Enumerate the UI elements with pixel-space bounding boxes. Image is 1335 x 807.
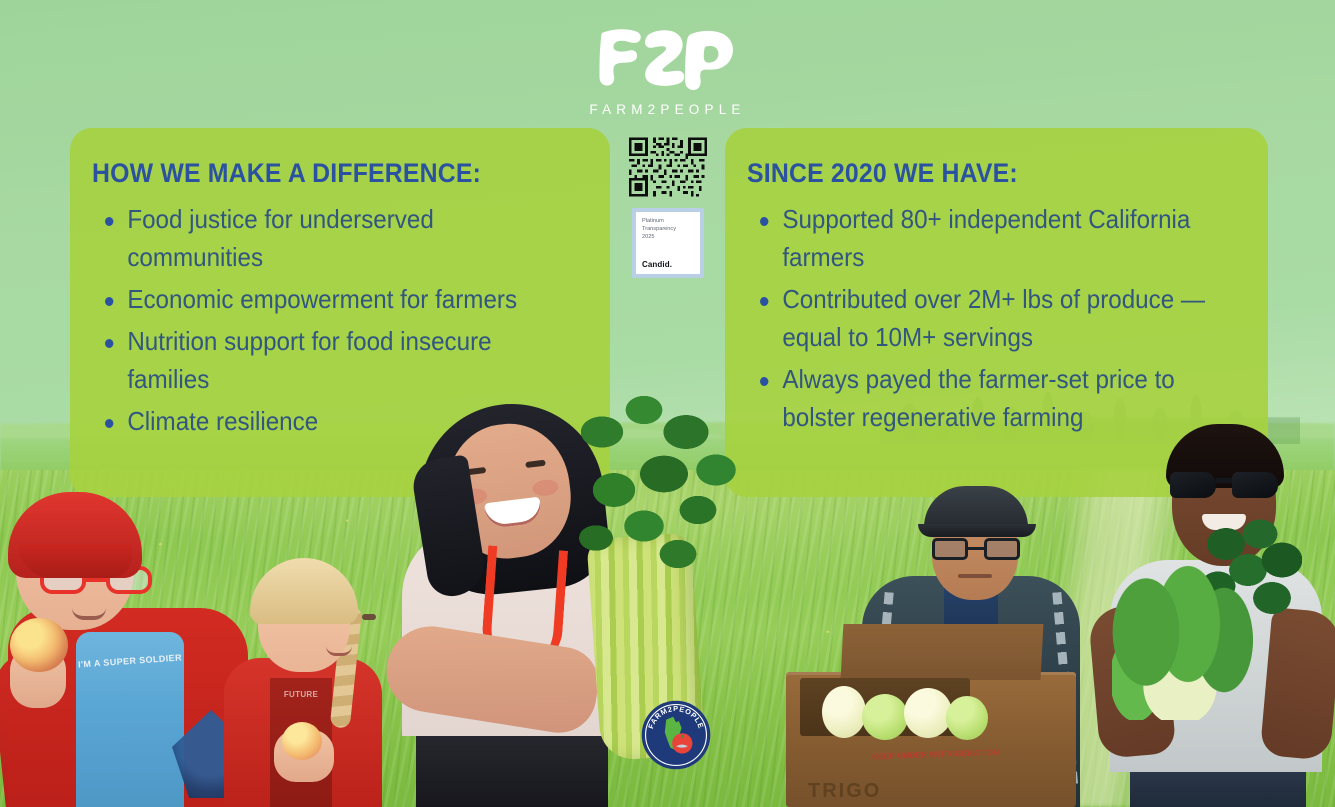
candid-line-3: 2025 xyxy=(642,233,694,241)
farm2people-circle-badge: FARM2PEOPLE xyxy=(641,700,711,770)
child-shirt-text: I'M A SUPER SOLDIER xyxy=(76,652,185,671)
child-graphic-tee: I'M A SUPER SOLDIER xyxy=(76,632,184,807)
celery-leaves xyxy=(566,386,738,586)
right-panel-heading: SINCE 2020 WE HAVE: xyxy=(747,158,1202,189)
sunglasses-bridge xyxy=(1216,478,1232,483)
list-item: Food justice for underserved communities xyxy=(92,201,550,277)
right-panel-bullet-list: Supported 80+ independent California far… xyxy=(747,201,1242,437)
daikon-radish-icon xyxy=(946,696,988,740)
daikon-radish-icon xyxy=(822,686,866,738)
list-item: Contributed over 2M+ lbs of produce — eq… xyxy=(747,281,1207,357)
farmer-eyeglasses xyxy=(932,538,1020,560)
candid-brand-label: Candid. xyxy=(642,260,694,269)
photo-farmer-with-produce-box: adidas KEEP UNDER REFRIGERATION TRIGO xyxy=(828,480,1118,807)
box-interior xyxy=(800,678,970,736)
glasses-lens-left xyxy=(932,538,968,560)
photo-man-with-leafy-greens xyxy=(1090,410,1335,807)
list-item: Economic empowerment for farmers xyxy=(92,281,550,319)
candid-transparency-badge[interactable]: Platinum Transparency 2025 Candid. xyxy=(632,208,704,278)
list-item: Supported 80+ independent California far… xyxy=(747,201,1207,277)
box-brand-label: TRIGO xyxy=(808,780,881,803)
farmer-cap-brim xyxy=(918,524,1036,537)
woman-cheek-right xyxy=(532,478,560,497)
woman-eye-right xyxy=(525,460,546,468)
poster-canvas: FARM2PEOPLE xyxy=(0,0,1335,807)
child2-shirt-text: FUTURE xyxy=(270,690,332,699)
sunglasses-lens-right xyxy=(1232,472,1278,498)
peach-fruit-icon xyxy=(10,618,68,672)
cardboard-produce-box: KEEP UNDER REFRIGERATION TRIGO xyxy=(786,672,1076,807)
leafy-greens-bunch xyxy=(1112,514,1302,720)
child2-blonde-hair xyxy=(250,558,358,624)
daikon-radish-icon xyxy=(862,694,908,740)
child-smile xyxy=(72,608,106,620)
box-flap xyxy=(841,624,1044,680)
peach-fruit-icon xyxy=(282,722,322,760)
child-red-hair xyxy=(8,492,142,578)
photo-child-with-braid: FUTURE xyxy=(218,562,388,807)
candid-line-1: Platinum xyxy=(642,217,694,225)
daikon-radish-icon xyxy=(904,688,952,738)
qr-and-badge-block: Platinum Transparency 2025 Candid. xyxy=(626,137,710,278)
man-sunglasses xyxy=(1170,472,1278,498)
romaine-lettuce-icon xyxy=(1112,554,1262,720)
woman-smile xyxy=(484,497,543,530)
farmer-mouth xyxy=(958,574,992,578)
qr-code-icon[interactable] xyxy=(629,137,707,197)
photo-child-with-peach: I'M A SUPER SOLDIER xyxy=(0,500,254,807)
box-refrigeration-label: KEEP UNDER REFRIGERATION xyxy=(872,748,1000,762)
candid-line-2: Transparency xyxy=(642,225,694,233)
candid-badge-text: Platinum Transparency 2025 xyxy=(642,217,694,241)
left-panel-heading: HOW WE MAKE A DIFFERENCE: xyxy=(92,158,545,189)
glasses-bridge xyxy=(968,547,984,550)
list-item: Nutrition support for food insecure fami… xyxy=(92,323,550,399)
glasses-lens-right xyxy=(984,538,1020,560)
sunglasses-lens-left xyxy=(1170,472,1216,498)
glasses-bridge xyxy=(86,578,106,582)
